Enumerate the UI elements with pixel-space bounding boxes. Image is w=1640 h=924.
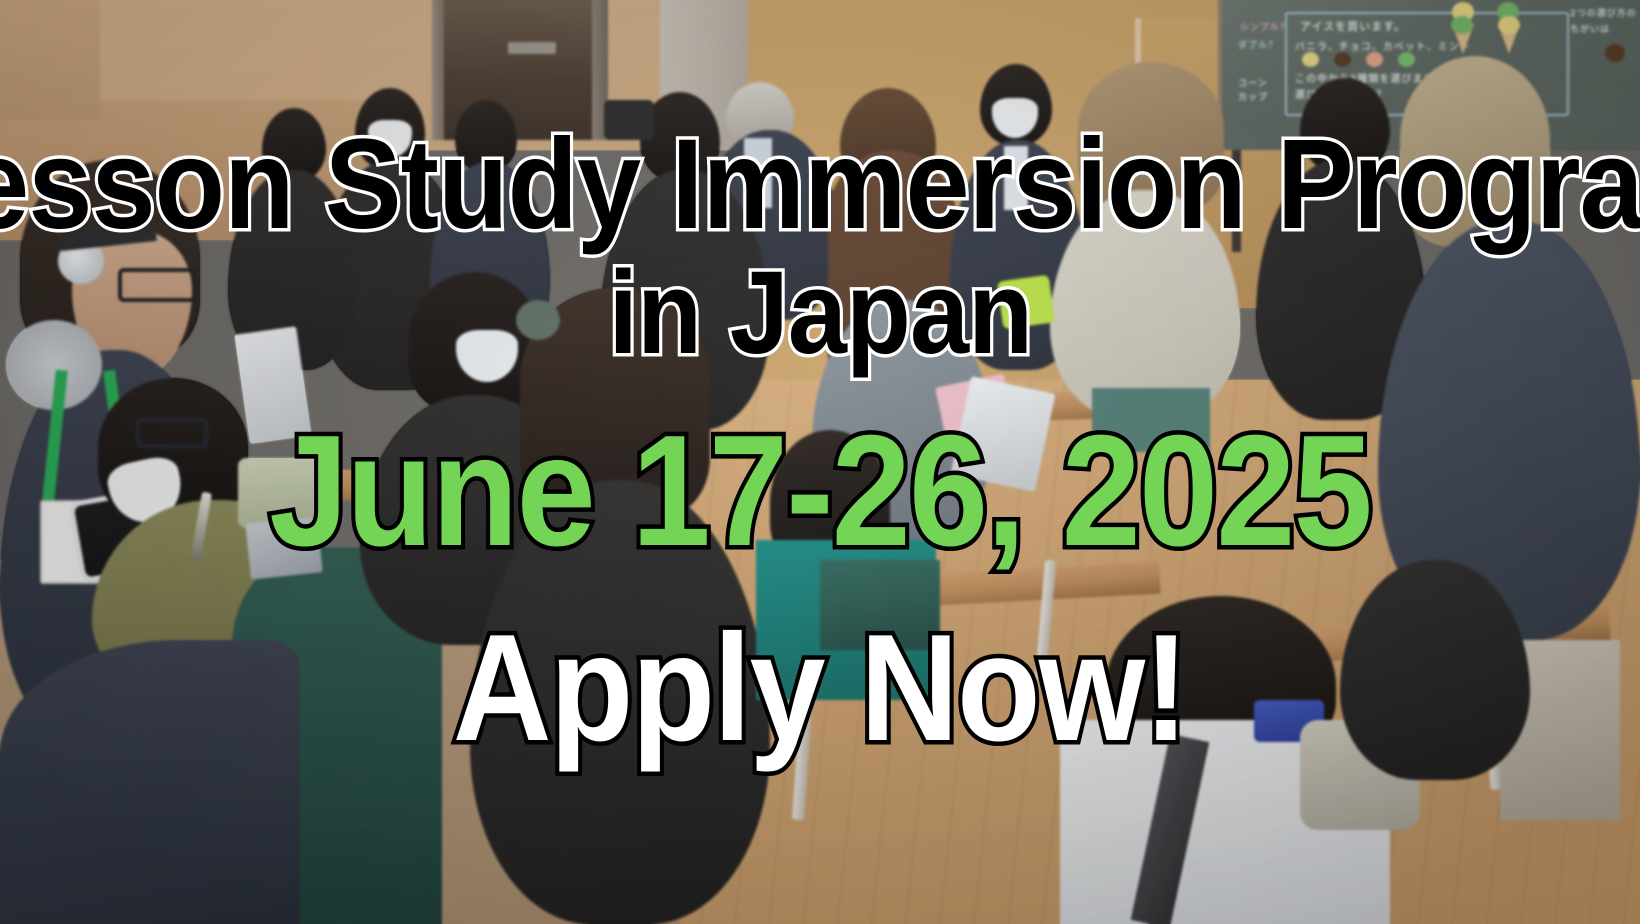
blackboard-heading: アイスを買います。 xyxy=(1300,18,1406,34)
neon-bag xyxy=(997,275,1055,330)
flavor-dot-mint xyxy=(1398,52,1415,67)
background-photo: アイスを買います。 バニラ、チョコ、カベット、ミント この中から2種類を選びます… xyxy=(0,0,1640,924)
blackboard-label-double: ダブル？ xyxy=(1238,38,1278,51)
hair-tie xyxy=(516,300,560,340)
blackboard-options: バニラ、チョコ、カベット、ミント xyxy=(1295,38,1471,53)
flavor-dot-chocolate xyxy=(1334,52,1351,67)
wood-panel-left xyxy=(0,0,100,120)
door-closer-hardware xyxy=(508,42,556,54)
blackboard-label-simple: シンプル？ xyxy=(1240,20,1290,33)
door-frame-left xyxy=(432,0,444,140)
cone-scoop-vanilla-2 xyxy=(1498,16,1520,34)
video-camera xyxy=(604,100,654,140)
blackboard-label-cup: カップ xyxy=(1238,90,1268,103)
suit-shirt xyxy=(1004,146,1028,210)
student-green-apron xyxy=(820,560,940,650)
blackboard-label-cone: コーン xyxy=(1238,76,1268,89)
cone-scoop-mint xyxy=(1451,16,1473,34)
dress-shirt-collar xyxy=(744,138,772,208)
person-shoulder-bottom-left xyxy=(0,640,300,924)
blackboard-label-difference-2: ちがいは xyxy=(1570,22,1610,35)
flavor-dot-vanilla xyxy=(1302,52,1319,67)
flavor-dot-caramel xyxy=(1366,52,1383,67)
eyeglasses xyxy=(118,268,196,302)
blackboard-dot-right xyxy=(1605,44,1625,62)
poster-canvas: アイスを買います。 バニラ、チョコ、カベット、ミント この中から2種類を選びます… xyxy=(0,0,1640,924)
held-notebook-3 xyxy=(245,516,322,579)
curly-hair-right xyxy=(1400,56,1550,246)
blackboard-label-difference: 2つの選び方の xyxy=(1570,6,1637,19)
student-eyeglasses xyxy=(136,418,208,448)
teal-trousers xyxy=(1092,388,1210,452)
